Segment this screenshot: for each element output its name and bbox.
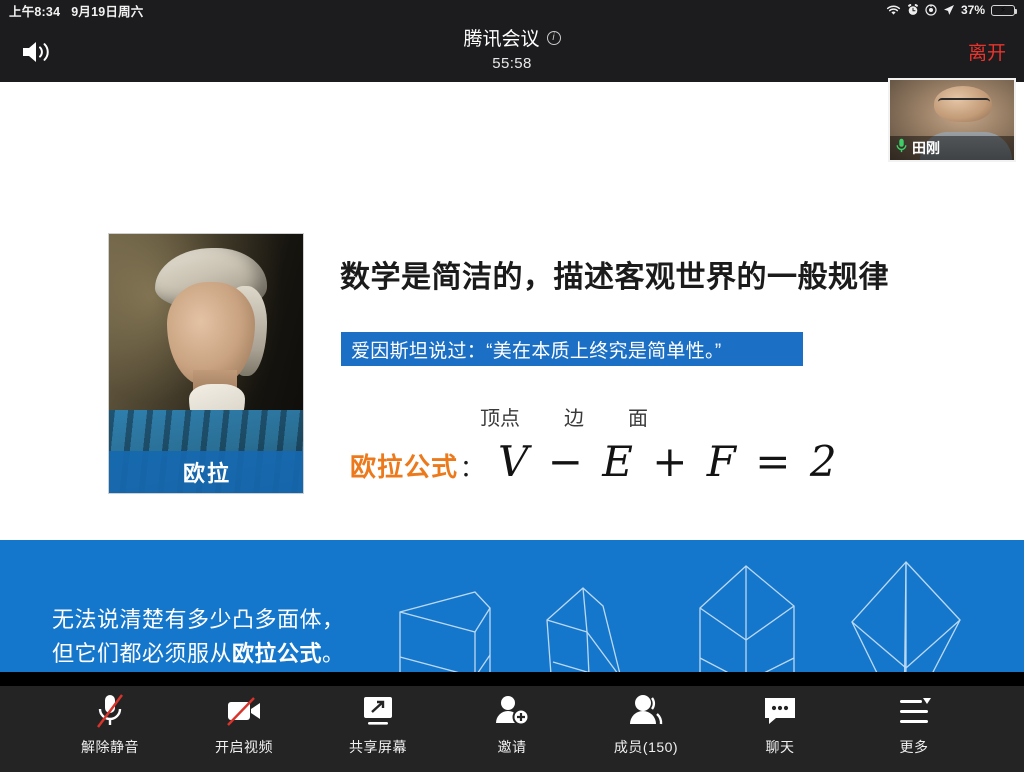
polyhedra-wireframes [380,550,1000,672]
cube-wireframe [400,592,490,672]
euler-formula-row: 欧拉公式 ： V − E + F = 2 [350,437,840,486]
meeting-toolbar: 解除静音 开启视频 共享屏幕 [0,686,1024,772]
status-bar-time: 上午8:34 [9,1,60,20]
toolbar-label-unmute: 解除静音 [81,737,139,757]
participants-icon [627,692,665,730]
portrait-caption: 欧拉 [109,451,304,493]
euler-formula: V − E + F = 2 [498,437,840,486]
leave-meeting-button[interactable]: 离开 [968,38,1006,65]
ipad-screen: 上午8:34 9月19日周六 37% ⚡ [0,0,1024,772]
status-bar-date: 9月19日周六 [71,1,143,20]
self-view-glasses [938,98,990,109]
share-screen-icon [360,692,396,730]
formula-colon: ： [460,448,484,483]
rotation-lock-icon [925,4,937,16]
toolbar-label-participants: 成员(150) [614,737,678,757]
toolbar-item-share-screen[interactable]: 共享屏幕 [330,692,426,762]
invite-person-icon [493,692,531,730]
self-view-name: 田刚 [912,138,940,158]
meeting-timer: 55:58 [492,55,532,72]
term-label-edges: 边 [564,402,584,431]
meeting-title-block: 腾讯会议 i 55:58 [0,24,1024,72]
slide-lower-line1: 无法说清楚有多少凸多面体， [52,603,382,637]
slide-lower-line2-prefix: 但它们都必须服从 [52,641,232,666]
info-icon[interactable]: i [547,31,561,45]
chat-icon [762,692,798,730]
toolbar-label-more: 更多 [900,737,929,757]
microphone-muted-icon [93,692,127,730]
meeting-title-row[interactable]: 腾讯会议 i [463,24,560,51]
status-bar: 上午8:34 9月19日周六 37% ⚡ [0,0,1024,20]
self-view-thumbnail[interactable]: 田刚 [888,78,1016,162]
more-icon [896,692,932,730]
status-bar-right: 37% ⚡ [886,3,1015,17]
toolbar-label-invite: 邀请 [498,737,527,757]
toolbar-item-participants[interactable]: 成员(150) [598,692,694,762]
formula-term-labels: 顶点 边 面 [480,402,710,431]
slide-title: 数学是简洁的，描述客观世界的一般规律 [340,252,940,296]
meeting-header: 腾讯会议 i 55:58 离开 [0,20,1024,82]
shared-screen-slide: 欧拉 数学是简洁的，描述客观世界的一般规律 爱因斯坦说过：“美在本质上终究是简单… [0,82,1024,672]
term-label-faces: 面 [628,402,648,431]
toolbar-item-invite[interactable]: 邀请 [464,692,560,762]
toolbar-label-start-video: 开启视频 [215,737,273,757]
slide-lower-text: 无法说清楚有多少凸多面体， 但它们都必须服从欧拉公式。 [52,603,382,671]
battery-charging-icon: ⚡ [991,5,1015,16]
toolbar-item-chat[interactable]: 聊天 [732,692,828,762]
bipyramid-wireframe [852,562,960,672]
slide-lower-line2: 但它们都必须服从欧拉公式。 [52,637,382,671]
video-off-icon [224,692,264,730]
wifi-icon [886,4,901,16]
microphone-icon [896,138,907,158]
toolbar-label-share-screen: 共享屏幕 [349,737,407,757]
house-prism-wireframe [700,566,794,672]
slide-lower-band: 无法说清楚有多少凸多面体， 但它们都必须服从欧拉公式。 [0,540,1024,672]
formula-label: 欧拉公式 [350,447,458,484]
self-view-name-bar: 田刚 [890,136,1016,160]
prism-wireframe [547,588,621,672]
battery-percent-label: 37% [961,3,985,17]
alarm-icon [907,4,919,16]
slide-lower-line2-suffix: 。 [322,641,345,666]
status-bar-left: 上午8:34 9月19日周六 [9,1,143,20]
location-arrow-icon [943,4,955,16]
slide-lower-line2-bold: 欧拉公式 [232,641,322,666]
toolbar-item-unmute[interactable]: 解除静音 [62,692,158,762]
quote-banner: 爱因斯坦说过：“美在本质上终究是简单性。” [341,332,803,366]
meeting-title: 腾讯会议 [463,24,539,51]
toolbar-label-chat: 聊天 [766,737,795,757]
toolbar-item-start-video[interactable]: 开启视频 [196,692,292,762]
toolbar-item-more[interactable]: 更多 [866,692,962,762]
term-label-vertices: 顶点 [480,402,520,431]
euler-portrait: 欧拉 [108,233,304,494]
